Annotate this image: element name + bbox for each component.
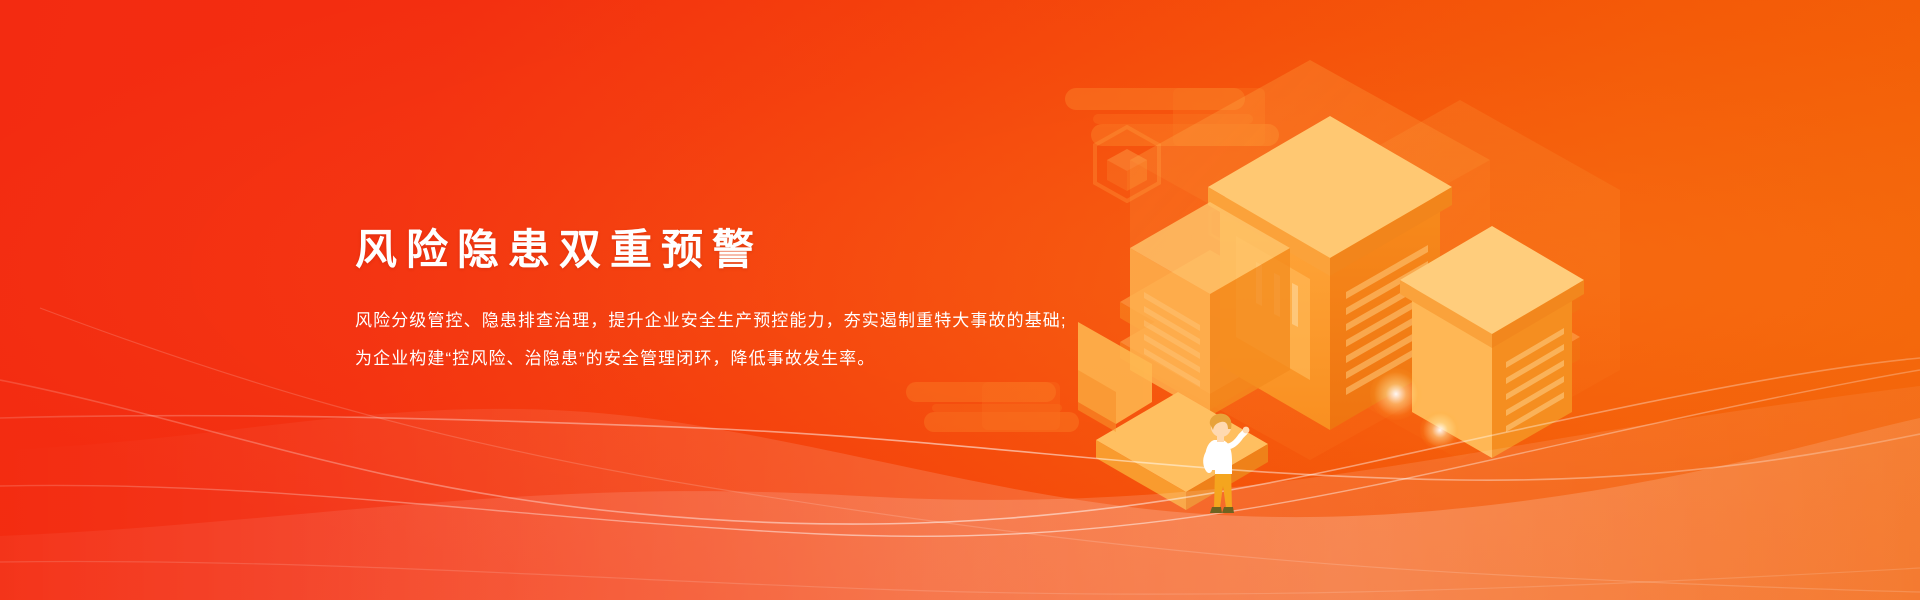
person-illustration	[1195, 408, 1255, 528]
cloud-motif-icon	[896, 382, 1076, 430]
banner-subtitle: 风险分级管控、隐患排查治理，提升企业安全生产预控能力，夯实遏制重特大事故的基础;…	[355, 302, 1075, 378]
page-title: 风险隐患双重预警	[355, 224, 1075, 276]
isometric-blocks-illustration	[1060, 40, 1620, 510]
subtitle-line-1: 风险分级管控、隐患排查治理，提升企业安全生产预控能力，夯实遏制重特大事故的基础;	[355, 302, 1075, 340]
banner-copy: 风险隐患双重预警 风险分级管控、隐患排查治理，提升企业安全生产预控能力，夯实遏制…	[355, 224, 1075, 378]
subtitle-line-2: 为企业构建“控风险、治隐患”的安全管理闭环，降低事故发生率。	[355, 340, 1075, 378]
hero-banner: 风险隐患双重预警 风险分级管控、隐患排查治理，提升企业安全生产预控能力，夯实遏制…	[0, 0, 1920, 600]
